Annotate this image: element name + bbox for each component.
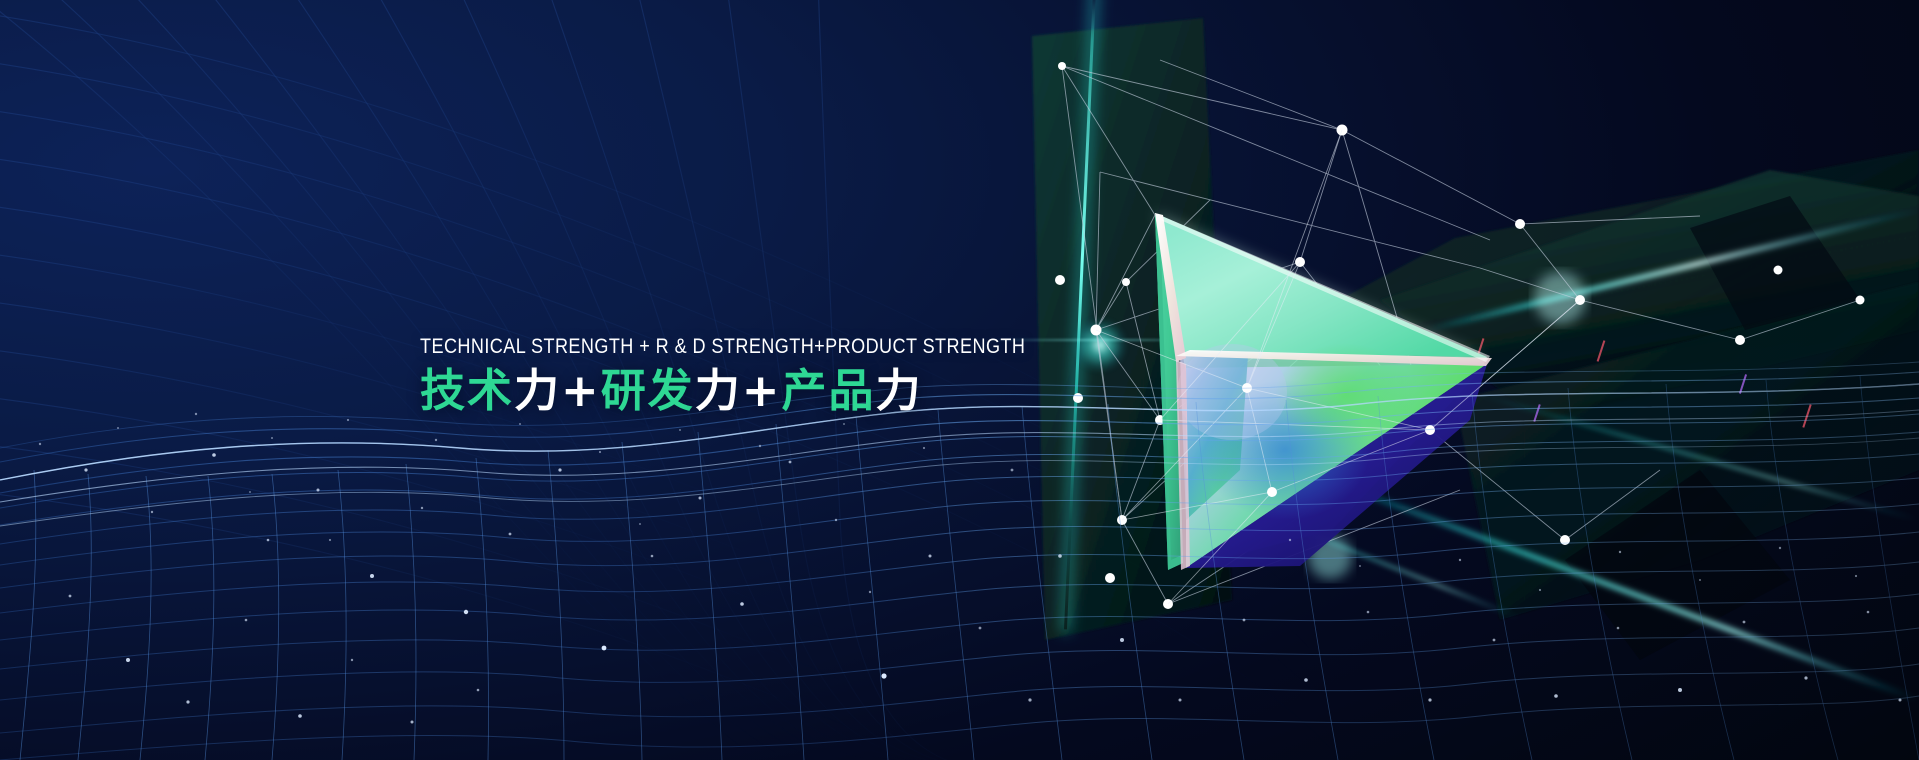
headline-english: TECHNICAL STRENGTH + R & D STRENGTH+PROD… — [420, 336, 1025, 357]
headline-cn-seg-3: 研发 — [601, 364, 695, 417]
headline-cn-seg-1: 力 — [514, 364, 561, 417]
headline-cn-seg-7: 力 — [876, 364, 923, 417]
headline-cn-seg-5: + — [742, 364, 782, 417]
headline-cn-seg-0: 技术 — [420, 364, 514, 417]
headline-cn-seg-2: + — [561, 364, 601, 417]
headline-cn-seg-4: 力 — [695, 364, 742, 417]
headline-block: TECHNICAL STRENGTH + R & D STRENGTH+PROD… — [420, 336, 1124, 413]
headline-chinese: 技术力+研发力+产品力 — [420, 368, 1124, 413]
headline-cn-seg-6: 产品 — [782, 364, 876, 417]
banner-stage: TECHNICAL STRENGTH + R & D STRENGTH+PROD… — [0, 0, 1919, 760]
